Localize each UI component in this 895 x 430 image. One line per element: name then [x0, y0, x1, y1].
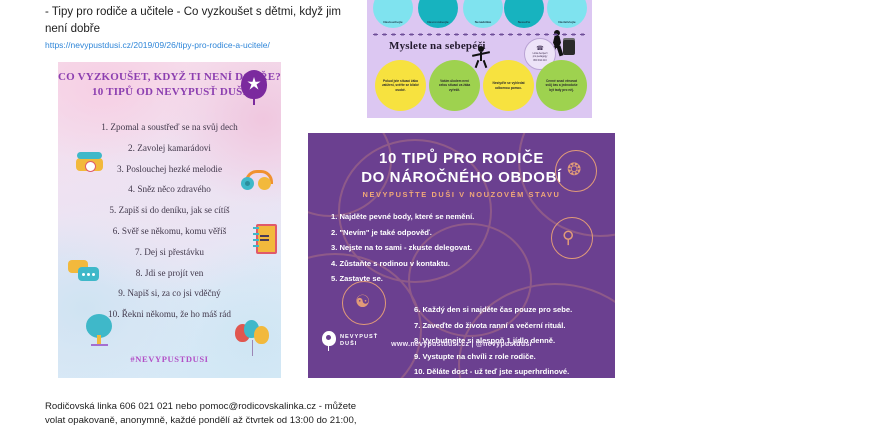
- meditation-circle-icon: ❂: [555, 150, 597, 192]
- list-item: 1. Zpomal a soustřeď se na svůj dech: [58, 117, 281, 138]
- list-item: 4. Zůstaňte s rodinou v kontaktu.: [331, 256, 531, 272]
- list-item: 2. "Nevím" je také odpověď.: [331, 225, 531, 241]
- care-circle: Nestyďte se vyhledat odbornou pomoc.: [483, 60, 534, 111]
- circle-badge: Nezlehčujte: [547, 0, 587, 28]
- list-item: 5. Zastavte se.: [331, 271, 531, 287]
- hashtag-label: #NEVYPUSTDUSI: [58, 354, 281, 364]
- poster-watercolor[interactable]: CO VYZKOUŠET, KDYŽ TI NENÍ DOBŘE? 10 TIP…: [58, 62, 281, 378]
- list-item: 6. Každý den si najděte čas pouze pro se…: [414, 302, 610, 318]
- headphones-icon: [241, 170, 271, 192]
- poster-purple[interactable]: 10 TIPŮ PRO RODIČE DO NÁROČNÉHO OBDOBÍ N…: [308, 133, 615, 378]
- circle-badge: Naslouchejte: [373, 0, 413, 28]
- list-item: 9. Vystupte na chvíli z role rodiče.: [414, 349, 610, 365]
- circle-badge: Nesuďte: [504, 0, 544, 28]
- helpline-footer-text: Rodičovská linka 606 021 021 nebo pomoc@…: [45, 400, 375, 428]
- circle-badge: Nesrovnávejte: [418, 0, 458, 28]
- dotted-divider: [371, 33, 589, 36]
- list-item: 9. Napiš si, za co jsi vděčný: [58, 283, 281, 304]
- yoga-person-icon: ☯: [342, 281, 386, 325]
- list-item: 3. Nejste na to sami - zkuste delegovat.: [331, 240, 531, 256]
- speech-bubble-icon: [68, 260, 100, 282]
- poster-lavender[interactable]: Naslouchejte Nesrovnávejte Nenaděláte Ne…: [367, 0, 592, 118]
- care-circle: Vaším úkolem není celou situaci za žáka …: [429, 60, 480, 111]
- list-item: 6. Svěř se někomu, komu věříš: [58, 221, 281, 242]
- notebook-icon: [253, 224, 273, 250]
- poster-purple-tips-left: 1. Najděte pevné body, které se nemění. …: [331, 209, 531, 287]
- tree-icon: [86, 314, 112, 346]
- list-item: 1. Najděte pevné body, které se nemění.: [331, 209, 531, 225]
- care-circle: Pokud jste situací žáka zatíženi, svěřte…: [375, 60, 426, 111]
- poster-watercolor-tip-list: 1. Zpomal a soustřeď se na svůj dech 2. …: [58, 117, 281, 325]
- balloons-icon: [235, 320, 271, 358]
- brand-logo-line1: NEVYPUSŤ: [340, 334, 378, 341]
- poster-purple-subtitle: NEVYPUSŤTE DUŠI V NOUZOVÉM STAVU: [308, 190, 615, 199]
- circle-badge: Nenaděláte: [463, 0, 503, 28]
- page-canvas: - Tipy pro rodiče a učitele - Co vyzkouš…: [0, 0, 895, 430]
- telephone-icon: [76, 150, 103, 172]
- poster-lavender-care-circle-row: Pokud jste situací žáka zatíženi, svěřte…: [367, 60, 592, 110]
- care-circle: Cenné snad věnovat svůj čas a jednoduše …: [536, 60, 587, 111]
- search-result-header: - Tipy pro rodiče a učitele - Co vyzkouš…: [45, 4, 345, 52]
- list-item: 7. Zaveďte do života ranní a večerní rit…: [414, 318, 610, 334]
- list-item: 5. Zapiš si do deníku, jak se cítíš: [58, 200, 281, 221]
- poster-purple-web-line: www.nevypustdusi.cz | @nevypustdusi: [308, 341, 615, 348]
- page-title: - Tipy pro rodiče a učitele - Co vyzkouš…: [45, 4, 345, 38]
- magic-hat-icon: ⚲: [551, 217, 593, 259]
- balloon-icon: [241, 70, 267, 104]
- poster-lavender-top-circle-row: Naslouchejte Nesrovnávejte Nenaděláte Ne…: [367, 0, 592, 30]
- poster-purple-tips-right: 6. Každý den si najděte čas pouze pro se…: [414, 302, 610, 378]
- source-link[interactable]: https://nevypustdusi.cz/2019/09/26/tipy-…: [45, 39, 345, 52]
- list-item: 10. Děláte dost - už teď jste superhrdin…: [414, 364, 610, 378]
